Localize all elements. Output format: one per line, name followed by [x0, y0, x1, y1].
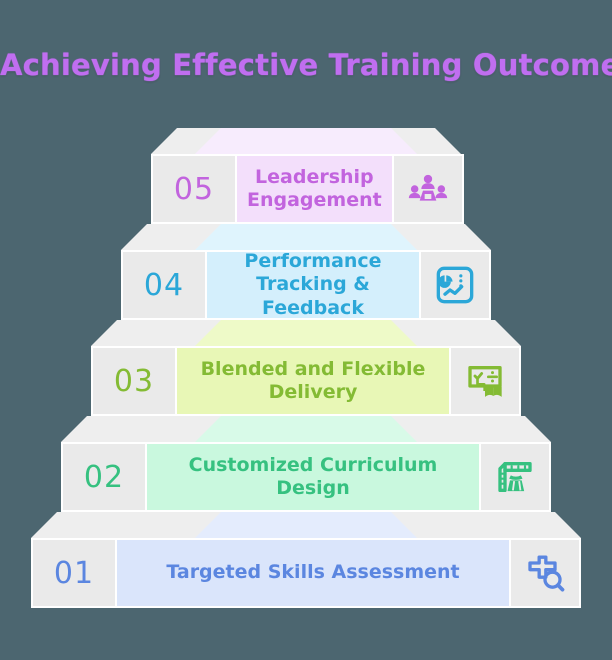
step-03-top-bevel-tint	[195, 320, 417, 346]
step-02-label-cell: Customized Curriculum Design	[147, 442, 479, 512]
ruler-pattern-icon	[495, 457, 535, 497]
step-04-face: 04 Performance Tracking & Feedback	[121, 250, 491, 320]
step-04-label-cell: Performance Tracking & Feedback	[207, 250, 419, 320]
step-05-label-cell: Leadership Engagement	[237, 154, 392, 224]
step-03-label-cell: Blended and Flexible Delivery	[177, 346, 449, 416]
step-03-icon-cell[interactable]	[449, 346, 521, 416]
people-meeting-icon	[408, 169, 448, 209]
step-02[interactable]: 02 Customized Curriculum Design	[61, 416, 551, 512]
step-02-number: 02	[84, 460, 124, 495]
step-01-label-cell: Targeted Skills Assessment	[117, 538, 509, 608]
step-01-top-bevel-tint	[195, 512, 417, 538]
step-04-number: 04	[144, 268, 184, 303]
analytics-chart-icon	[435, 265, 475, 305]
step-02-top-bevel-tint	[195, 416, 417, 442]
step-01-icon-cell[interactable]	[509, 538, 581, 608]
step-01-number-cell: 01	[31, 538, 117, 608]
staircase-diagram: 05 Leadership Engagement	[0, 128, 612, 618]
step-04-number-cell: 04	[121, 250, 207, 320]
step-05-face: 05 Leadership Engagement	[151, 154, 461, 224]
step-02-number-cell: 02	[61, 442, 147, 512]
step-05-label: Leadership Engagement	[247, 166, 382, 212]
step-04-top-bevel-tint	[195, 224, 417, 250]
step-05-top-bevel-tint	[195, 128, 417, 154]
step-01-face: 01 Targeted Skills Assessment	[31, 538, 581, 608]
step-04-label: Performance Tracking & Feedback	[217, 250, 409, 320]
grid-search-icon	[525, 553, 565, 593]
step-03-face: 03 Blended and Flexible Delivery	[91, 346, 521, 416]
step-01[interactable]: 01 Targeted Skills Assessment	[31, 512, 581, 608]
step-02-label: Customized Curriculum Design	[157, 454, 469, 500]
step-05-icon-cell[interactable]	[392, 154, 464, 224]
step-05-number-cell: 05	[151, 154, 237, 224]
step-05[interactable]: 05 Leadership Engagement	[151, 128, 461, 224]
step-02-face: 02 Customized Curriculum Design	[61, 442, 551, 512]
step-03[interactable]: 03 Blended and Flexible Delivery	[91, 320, 521, 416]
step-02-icon-cell[interactable]	[479, 442, 551, 512]
step-04-icon-cell[interactable]	[419, 250, 491, 320]
step-01-number: 01	[54, 556, 94, 591]
whiteboard-book-icon	[465, 361, 505, 401]
step-03-number-cell: 03	[91, 346, 177, 416]
step-01-label: Targeted Skills Assessment	[166, 561, 459, 584]
step-03-number: 03	[114, 364, 154, 399]
step-03-label: Blended and Flexible Delivery	[187, 358, 439, 404]
page-title: Achieving Effective Training Outcomes	[0, 48, 612, 82]
step-04[interactable]: 04 Performance Tracking & Feedback	[121, 224, 491, 320]
step-05-number: 05	[174, 172, 214, 207]
